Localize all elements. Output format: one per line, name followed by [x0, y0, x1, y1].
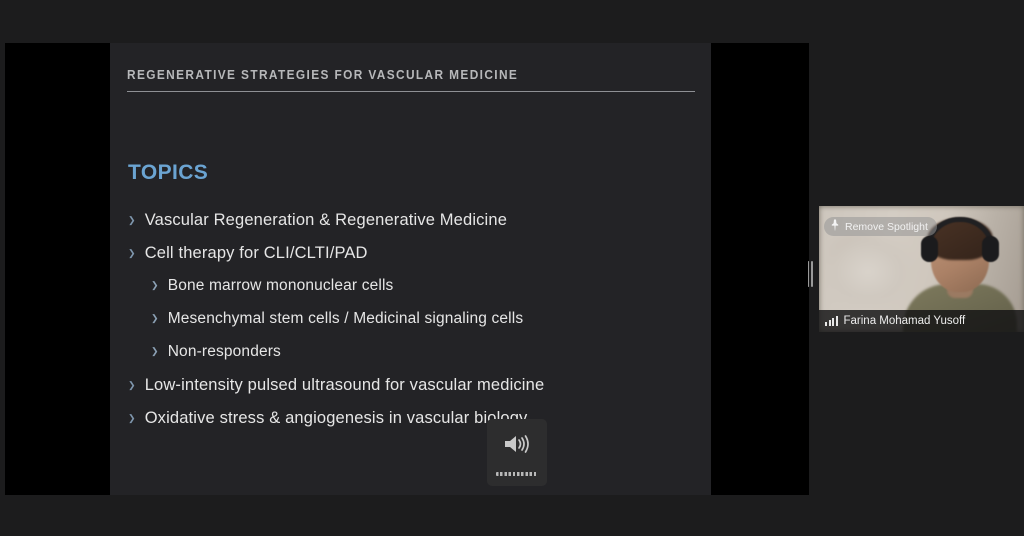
bullet-text: Bone marrow mononuclear cells — [168, 277, 394, 295]
volume-slider[interactable] — [496, 472, 538, 476]
bullet-text: Mesenchymal stem cells / Medicinal signa… — [168, 310, 524, 328]
bullet-text: Cell therapy for CLI/CLTI/PAD — [145, 244, 368, 263]
slide-header: REGENERATIVE STRATEGIES FOR VASCULAR MED… — [127, 68, 695, 92]
bullet-marker-icon: ❯ — [128, 381, 136, 390]
handle-bar — [811, 261, 813, 287]
slide-bullet-list: ❯ Vascular Regeneration & Regenerative M… — [128, 211, 703, 442]
bullet-marker-icon: ❯ — [151, 347, 159, 356]
participant-video-panel[interactable]: Remove Spotlight Farina Mohamad Yusoff — [819, 206, 1024, 332]
bullet-marker-icon: ❯ — [128, 414, 136, 423]
audio-volume-overlay[interactable] — [487, 419, 547, 486]
bullet-item: ❯ Oxidative stress & angiogenesis in vas… — [128, 409, 703, 442]
slide-header-text: REGENERATIVE STRATEGIES FOR VASCULAR MED… — [127, 68, 667, 82]
zoom-meeting-screen: REGENERATIVE STRATEGIES FOR VASCULAR MED… — [0, 0, 1024, 536]
bullet-marker-icon: ❯ — [151, 314, 159, 323]
shared-screen-region[interactable]: REGENERATIVE STRATEGIES FOR VASCULAR MED… — [5, 43, 809, 495]
bullet-text: Low-intensity pulsed ultrasound for vasc… — [145, 376, 545, 395]
participant-name: Farina Mohamad Yusoff — [844, 315, 966, 327]
bullet-item: ❯ Non-responders — [128, 343, 703, 376]
bullet-text: Non-responders — [168, 343, 281, 361]
bullet-text: Vascular Regeneration & Regenerative Med… — [145, 211, 507, 230]
bullet-item: ❯ Low-intensity pulsed ultrasound for va… — [128, 376, 703, 409]
participant-name-bar: Farina Mohamad Yusoff — [819, 310, 1024, 332]
pin-icon — [830, 219, 840, 234]
bullet-text: Oxidative stress & angiogenesis in vascu… — [145, 409, 528, 428]
headphone-cup-left — [921, 236, 938, 262]
presentation-slide[interactable]: REGENERATIVE STRATEGIES FOR VASCULAR MED… — [110, 43, 711, 495]
bullet-marker-icon: ❯ — [128, 216, 136, 225]
bullet-item: ❯ Bone marrow mononuclear cells — [128, 277, 703, 310]
bullet-marker-icon: ❯ — [151, 281, 159, 290]
remove-spotlight-button[interactable]: Remove Spotlight — [824, 217, 937, 236]
headphone-cup-right — [982, 236, 999, 262]
slide-header-rule — [127, 91, 695, 92]
speaker-volume-icon[interactable] — [502, 433, 532, 460]
bullet-item: ❯ Vascular Regeneration & Regenerative M… — [128, 211, 703, 244]
handle-bar — [808, 261, 810, 287]
signal-bars-icon — [825, 316, 838, 326]
slide-title: TOPICS — [128, 161, 208, 185]
share-resize-handle[interactable] — [806, 259, 814, 289]
remove-spotlight-label: Remove Spotlight — [845, 221, 928, 233]
bullet-item: ❯ Cell therapy for CLI/CLTI/PAD — [128, 244, 703, 277]
bullet-item: ❯ Mesenchymal stem cells / Medicinal sig… — [128, 310, 703, 343]
bullet-marker-icon: ❯ — [128, 249, 136, 258]
